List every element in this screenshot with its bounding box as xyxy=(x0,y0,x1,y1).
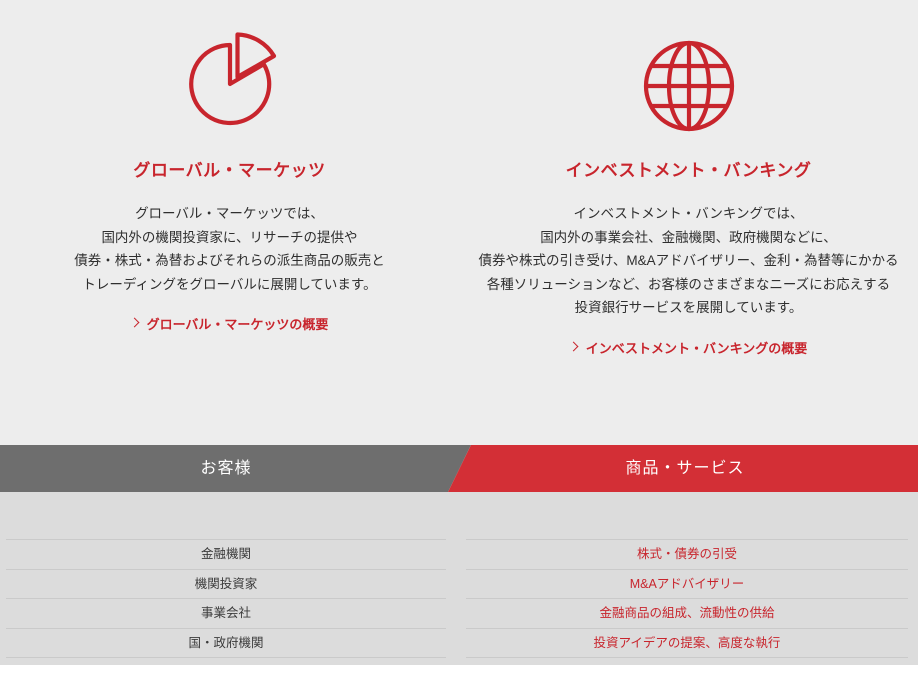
table-cell-customer: 金融機関 xyxy=(6,539,446,569)
promo-body-line: グローバル・マーケッツでは、 xyxy=(0,202,459,226)
promo-link-global-markets[interactable]: グローバル・マーケッツの概要 xyxy=(131,314,329,333)
globe-icon-wrapper xyxy=(459,0,918,150)
table-cell-product: 株式・債券の引受 xyxy=(466,539,908,569)
pie-chart-icon-wrapper xyxy=(0,0,459,150)
promo-link-label: グローバル・マーケッツの概要 xyxy=(147,314,329,333)
promo-body-line: 国内外の機関投資家に、リサーチの提供や xyxy=(0,226,459,250)
table-cell-customer: 機関投資家 xyxy=(6,569,446,599)
promo-title-investment-banking: インベストメント・バンキング xyxy=(459,160,918,182)
table-column-products: 株式・債券の引受 M&Aアドバイザリー 金融商品の組成、流動性の供給 投資アイデ… xyxy=(452,539,918,687)
globe-icon xyxy=(630,25,748,143)
table-header-products: 商品・サービス xyxy=(452,445,918,492)
comparison-table: お客様 商品・サービス 金融機関 機関投資家 事業会社 国・政府機関 株式・債券… xyxy=(0,445,918,665)
table-cell-product: 投資アイデアの提案、高度な執行 xyxy=(466,628,908,658)
promo-body-line: インベストメント・バンキングでは、 xyxy=(459,202,918,226)
promo-body-line: 国内外の事業会社、金融機関、政府機関などに、 xyxy=(459,226,918,250)
table-cell-product: M&Aアドバイザリー xyxy=(466,569,908,599)
table-header-customers: お客様 xyxy=(0,445,452,492)
table-header-row: お客様 商品・サービス xyxy=(0,445,918,492)
promo-body-line: 債券や株式の引き受け、M&Aアドバイザリー、金利・為替等にかかる xyxy=(459,249,918,273)
promo-body-investment-banking: インベストメント・バンキングでは、 国内外の事業会社、金融機関、政府機関などに、… xyxy=(459,202,918,320)
table-body: 金融機関 機関投資家 事業会社 国・政府機関 株式・債券の引受 M&Aアドバイザ… xyxy=(0,492,918,665)
chevron-right-icon xyxy=(131,318,138,329)
promo-body-global-markets: グローバル・マーケッツでは、 国内外の機関投資家に、リサーチの提供や 債券・株式… xyxy=(0,202,459,296)
promo-body-line: 投資銀行サービスを展開しています。 xyxy=(459,296,918,320)
promo-body-line: 各種ソリューションなど、お客様のさまざまなニーズにお応えする xyxy=(459,273,918,297)
promo-column-global-markets: グローバル・マーケッツ グローバル・マーケッツでは、 国内外の機関投資家に、リサ… xyxy=(0,0,459,445)
table-column-customers: 金融機関 機関投資家 事業会社 国・政府機関 xyxy=(0,539,452,687)
table-cell-customer: 国・政府機関 xyxy=(6,628,446,658)
promo-link-investment-banking[interactable]: インベストメント・バンキングの概要 xyxy=(570,338,808,357)
promo-body-line: トレーディングをグローバルに展開しています。 xyxy=(0,273,459,297)
promo-title-global-markets: グローバル・マーケッツ xyxy=(0,160,459,182)
chevron-right-icon xyxy=(570,342,577,353)
table-row-divider-bottom xyxy=(6,657,446,687)
promo-link-label: インベストメント・バンキングの概要 xyxy=(586,338,808,357)
table-cell-product: 金融商品の組成、流動性の供給 xyxy=(466,598,908,628)
promo-body-line: 債券・株式・為替およびそれらの派生商品の販売と xyxy=(0,249,459,273)
table-cell-customer: 事業会社 xyxy=(6,598,446,628)
pie-chart-icon xyxy=(171,25,289,143)
table-row-divider-bottom xyxy=(466,657,908,687)
promo-section: グローバル・マーケッツ グローバル・マーケッツでは、 国内外の機関投資家に、リサ… xyxy=(0,0,918,445)
promo-column-investment-banking: インベストメント・バンキング インベストメント・バンキングでは、 国内外の事業会… xyxy=(459,0,918,445)
